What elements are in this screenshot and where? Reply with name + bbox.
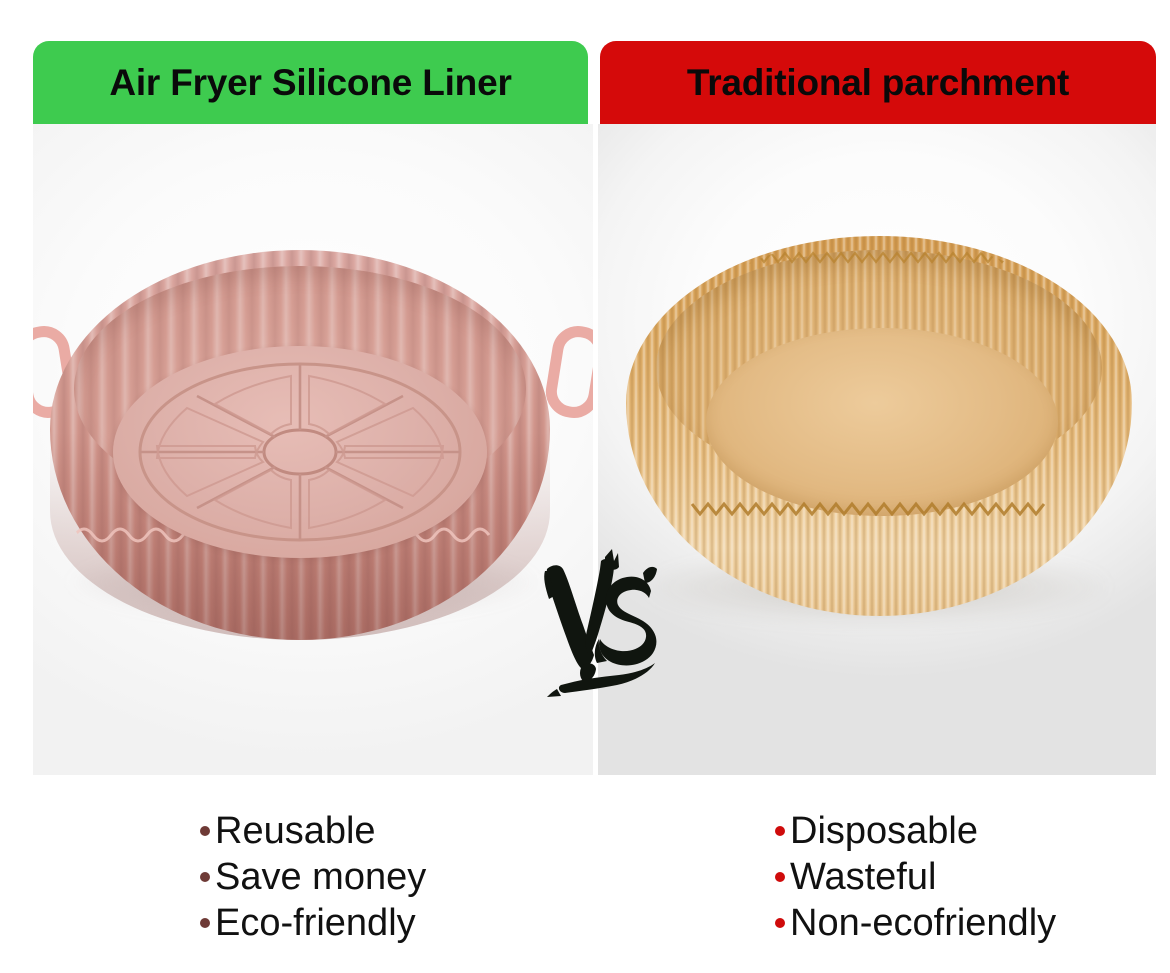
bullet-dot-icon — [200, 826, 210, 836]
silicone-liner-illustration — [33, 242, 593, 662]
bullet-dot-icon — [775, 872, 785, 882]
header-banner-left: Air Fryer Silicone Liner — [33, 41, 588, 124]
header-label-right: Traditional parchment — [687, 64, 1069, 101]
feature-list-left: Reusable Save money Eco-friendly — [200, 808, 426, 946]
feature-label: Disposable — [790, 808, 978, 854]
header-label-left: Air Fryer Silicone Liner — [109, 64, 511, 101]
bullet-dot-icon — [775, 918, 785, 928]
bullet-dot-icon — [775, 826, 785, 836]
product-photo-left — [33, 124, 593, 775]
list-item: Wasteful — [775, 854, 1056, 900]
list-item: Non-ecofriendly — [775, 900, 1056, 946]
feature-label: Eco-friendly — [215, 900, 416, 946]
feature-label: Reusable — [215, 808, 376, 854]
feature-list-right: Disposable Wasteful Non-ecofriendly — [775, 808, 1056, 946]
liner-handle-right — [542, 322, 593, 421]
feature-label: Non-ecofriendly — [790, 900, 1056, 946]
list-item: Reusable — [200, 808, 426, 854]
parchment-bottom-disc — [706, 328, 1058, 516]
list-item: Save money — [200, 854, 426, 900]
parchment-liner-illustration — [614, 232, 1144, 662]
header-banner-right: Traditional parchment — [600, 41, 1156, 124]
bullet-dot-icon — [200, 872, 210, 882]
product-comparison-image: Air Fryer Silicone Liner Traditional par… — [0, 0, 1170, 973]
vs-brush-icon — [539, 547, 659, 697]
liner-bottom-plate — [113, 346, 487, 558]
list-item: Eco-friendly — [200, 900, 426, 946]
list-item: Disposable — [775, 808, 1056, 854]
feature-label: Wasteful — [790, 854, 936, 900]
liner-petal-pattern-icon — [113, 346, 487, 558]
feature-label: Save money — [215, 854, 426, 900]
bullet-dot-icon — [200, 918, 210, 928]
product-photo-right — [598, 124, 1156, 775]
